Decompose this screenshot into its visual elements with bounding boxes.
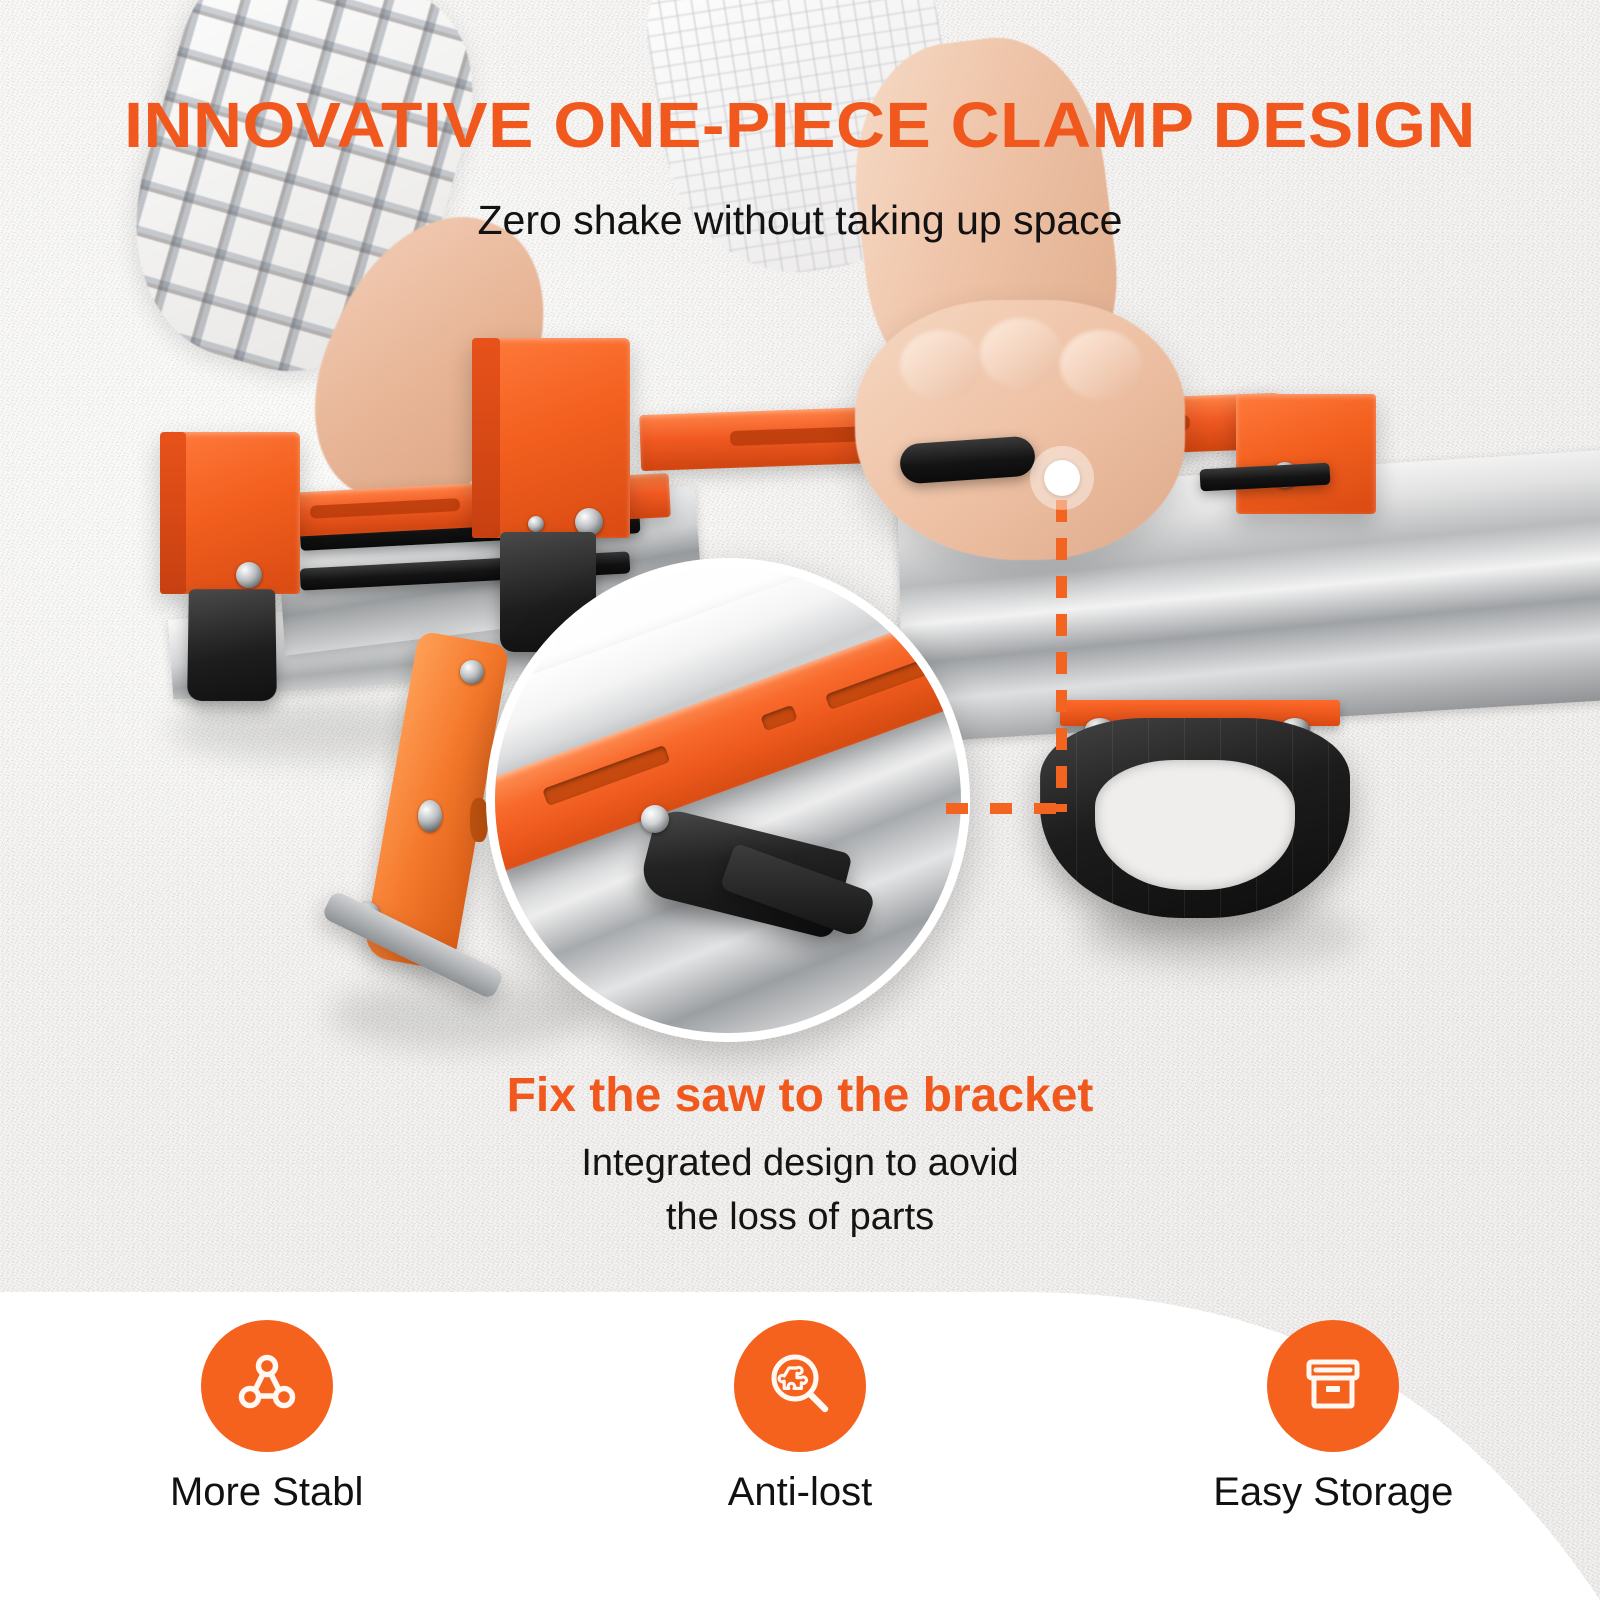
callout-screw — [641, 805, 669, 833]
feature-icon-circle — [1267, 1320, 1399, 1452]
triangle-nodes-icon — [229, 1346, 305, 1427]
feature-label: Easy Storage — [1213, 1470, 1453, 1515]
clamp-slot — [310, 498, 460, 519]
page-headline: INNOVATIVE ONE-PIECE CLAMP DESIGN — [0, 88, 1600, 162]
clamp-bracket-center-side — [472, 338, 500, 538]
mid-section-line-1: Integrated design to aovid — [0, 1142, 1600, 1185]
clamp-bracket-right — [1236, 394, 1376, 514]
knuckle — [1060, 330, 1142, 400]
page-subheadline: Zero shake without taking up space — [0, 197, 1600, 244]
feature-label: Anti-lost — [728, 1470, 873, 1515]
magnifier-puzzle-icon — [762, 1346, 838, 1427]
callout-slot — [825, 654, 943, 710]
feature-item-easy-storage: Easy Storage — [1067, 1286, 1600, 1515]
storage-box-icon — [1295, 1346, 1371, 1427]
callout-marker-dot — [1044, 460, 1080, 496]
knuckle — [900, 330, 982, 400]
bolt — [236, 562, 262, 588]
feature-item-more-stable: More Stabl — [0, 1286, 533, 1515]
knuckle — [980, 318, 1062, 388]
mid-section-line-2: the loss of parts — [0, 1196, 1600, 1239]
magnified-detail-callout — [486, 558, 970, 1042]
rubber-foot-left — [187, 589, 277, 701]
rivet — [460, 660, 484, 684]
callout-slot — [542, 745, 670, 806]
callout-leader-vertical — [1056, 500, 1067, 812]
callout-leader-horizontal — [940, 803, 1068, 814]
feature-icon-circle — [201, 1320, 333, 1452]
bolt-small — [528, 516, 544, 532]
feature-list: More Stabl Anti-lost — [0, 1286, 1600, 1600]
callout-notch — [760, 705, 797, 732]
feature-icon-circle — [734, 1320, 866, 1452]
product-marketing-image: INNOVATIVE ONE-PIECE CLAMP DESIGN Zero s… — [0, 0, 1600, 1600]
feature-label: More Stabl — [170, 1470, 363, 1515]
mid-section-title: Fix the saw to the bracket — [0, 1068, 1600, 1123]
clamp-bracket-left-side — [160, 432, 186, 594]
carry-handle-opening — [1095, 760, 1295, 890]
rivet — [418, 800, 442, 832]
feature-item-anti-lost: Anti-lost — [533, 1286, 1066, 1515]
